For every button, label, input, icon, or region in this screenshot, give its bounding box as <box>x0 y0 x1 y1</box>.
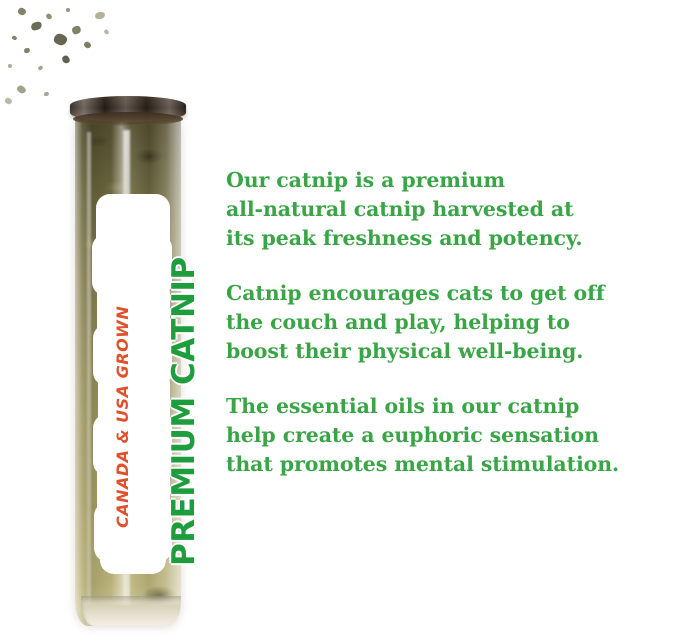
tube-base-rim <box>81 596 181 626</box>
product-label-text: PREMIUM CATNIP CANADA & USA GROWN <box>92 194 174 574</box>
tube-cap <box>70 96 186 122</box>
copy-paragraph-2: Catnip encourages cats to get off the co… <box>226 279 671 366</box>
label-origin-text: CANADA & USA GROWN <box>113 306 132 528</box>
marketing-copy-block: Our catnip is a premium all-natural catn… <box>226 166 671 479</box>
copy-paragraph-1: Our catnip is a premium all-natural catn… <box>226 166 671 253</box>
product-marketing-image: PREMIUM CATNIP CANADA & USA GROWN Our ca… <box>0 0 679 643</box>
label-main-title: PREMIUM CATNIP <box>166 256 202 566</box>
glass-highlight-secondary <box>87 132 91 626</box>
product-label-sticker: PREMIUM CATNIP CANADA & USA GROWN <box>92 194 174 574</box>
catnip-tube: PREMIUM CATNIP CANADA & USA GROWN <box>70 96 186 632</box>
tube-cap-lip <box>73 112 183 126</box>
copy-paragraph-3: The essential oils in our catnip help cr… <box>226 392 671 479</box>
